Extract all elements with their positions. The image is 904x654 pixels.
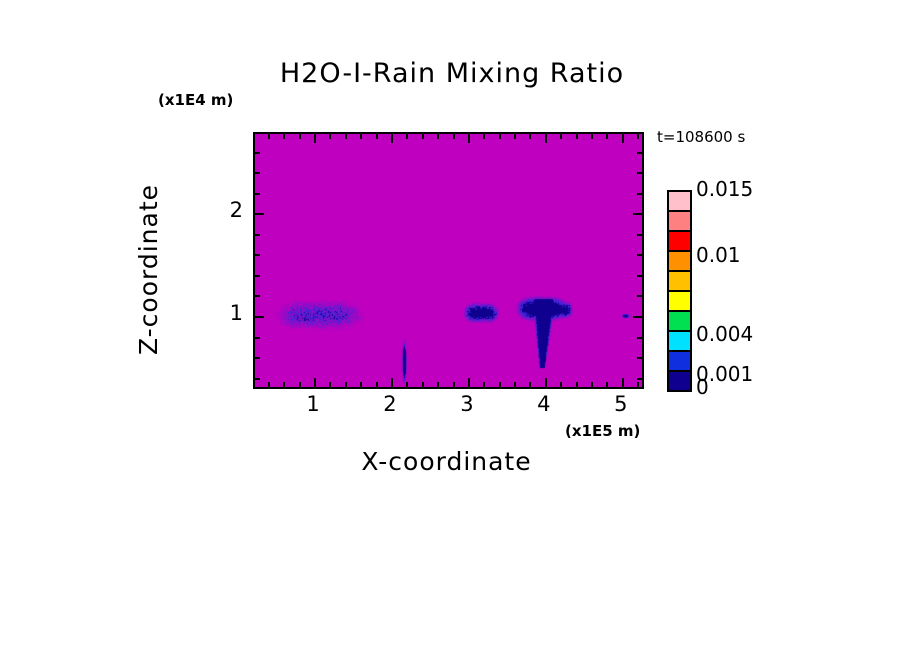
timestamp-annotation: t=108600 s: [657, 128, 745, 146]
x-axis-tick-label: 1: [293, 392, 333, 416]
colorbar-band-orange: [669, 252, 690, 272]
x-axis-tick-minor: [560, 134, 562, 139]
y-axis-tick-minor: [637, 152, 642, 154]
x-axis-tick-minor: [283, 134, 285, 139]
y-axis-unit-label: (x1E4 m): [158, 91, 233, 109]
colorbar: [667, 190, 692, 392]
x-axis-tick-minor: [376, 382, 378, 387]
x-axis-tick-minor: [453, 382, 455, 387]
x-axis-tick-minor: [299, 134, 301, 139]
colorbar-tick-label: 0.004: [696, 322, 753, 346]
x-axis-tick-minor: [422, 134, 424, 139]
x-axis-tick-minor: [345, 382, 347, 387]
x-axis-tick-minor: [453, 134, 455, 139]
x-axis-tick-minor: [591, 134, 593, 139]
x-axis-tick-label: 4: [524, 392, 564, 416]
colorbar-tick-label: 0.01: [696, 243, 741, 267]
x-axis-tick-minor: [329, 382, 331, 387]
colorbar-band-navy: [669, 372, 690, 390]
x-axis-tick-major: [622, 134, 624, 143]
colorbar-band-blue: [669, 352, 690, 372]
y-axis-tick-label: 1: [213, 301, 243, 325]
plot-area: [253, 132, 644, 389]
y-axis-tick-minor: [255, 378, 260, 380]
x-axis-tick-minor: [437, 382, 439, 387]
x-axis-tick-minor: [406, 134, 408, 139]
x-axis-tick-minor: [283, 382, 285, 387]
y-axis-tick-minor: [255, 275, 260, 277]
y-axis-tick-major: [255, 213, 264, 215]
x-axis-tick-minor: [606, 134, 608, 139]
x-axis-tick-minor: [360, 134, 362, 139]
y-axis-tick-minor: [637, 172, 642, 174]
y-axis-tick-minor: [637, 254, 642, 256]
y-axis-tick-minor: [637, 234, 642, 236]
x-axis-tick-minor: [514, 134, 516, 139]
colorbar-band-yellow: [669, 292, 690, 312]
x-axis-tick-label: 3: [447, 392, 487, 416]
heatmap-canvas: [255, 134, 642, 387]
x-axis-tick-minor: [576, 382, 578, 387]
x-axis-tick-minor: [437, 134, 439, 139]
x-axis-tick-minor: [329, 134, 331, 139]
x-axis-tick-minor: [483, 134, 485, 139]
x-axis-tick-minor: [268, 134, 270, 139]
y-axis-tick-minor: [637, 193, 642, 195]
x-axis-tick-major: [545, 134, 547, 143]
x-axis-tick-minor: [268, 382, 270, 387]
x-axis-tick-major: [314, 134, 316, 143]
y-axis-tick-minor: [637, 275, 642, 277]
y-axis-tick-minor: [255, 295, 260, 297]
x-axis-tick-minor: [376, 134, 378, 139]
x-axis-tick-minor: [360, 382, 362, 387]
y-axis-tick-minor: [637, 295, 642, 297]
y-axis-tick-major: [255, 316, 264, 318]
y-axis-tick-label: 2: [213, 198, 243, 222]
y-axis-tick-minor: [255, 193, 260, 195]
x-axis-tick-label: 5: [601, 392, 641, 416]
y-axis-tick-minor: [255, 234, 260, 236]
y-axis-tick-minor: [255, 152, 260, 154]
x-axis-tick-major: [391, 134, 393, 143]
colorbar-band-red: [669, 232, 690, 252]
x-axis-tick-major: [391, 378, 393, 387]
y-axis-tick-minor: [255, 254, 260, 256]
x-axis-tick-minor: [576, 134, 578, 139]
x-axis-tick-label: 2: [370, 392, 410, 416]
x-axis-tick-major: [545, 378, 547, 387]
x-axis-tick-minor: [499, 134, 501, 139]
x-axis-tick-minor: [637, 134, 639, 139]
colorbar-band-cyan: [669, 332, 690, 352]
x-axis-tick-minor: [529, 382, 531, 387]
colorbar-band-amber: [669, 272, 690, 292]
y-axis-tick-minor: [255, 172, 260, 174]
colorbar-band-pink: [669, 192, 690, 212]
x-axis-tick-major: [622, 378, 624, 387]
y-axis-tick-major: [633, 213, 642, 215]
x-axis-tick-minor: [345, 134, 347, 139]
x-axis-title: X-coordinate: [253, 447, 640, 476]
colorbar-tick-label: 0: [696, 375, 709, 399]
y-axis-tick-minor: [637, 357, 642, 359]
x-axis-tick-minor: [483, 382, 485, 387]
x-axis-tick-minor: [299, 382, 301, 387]
x-axis-tick-minor: [529, 134, 531, 139]
x-axis-tick-major: [314, 378, 316, 387]
x-axis-tick-minor: [606, 382, 608, 387]
figure-canvas: H2O-I-Rain Mixing Ratio (x1E4 m) t=10860…: [0, 0, 904, 654]
x-axis-tick-major: [468, 134, 470, 143]
y-axis-tick-minor: [637, 337, 642, 339]
colorbar-band-salmon: [669, 212, 690, 232]
x-axis-unit-label: (x1E5 m): [565, 422, 640, 440]
x-axis-tick-minor: [422, 382, 424, 387]
y-axis-tick-minor: [255, 337, 260, 339]
x-axis-tick-minor: [560, 382, 562, 387]
x-axis-tick-minor: [637, 382, 639, 387]
x-axis-tick-minor: [514, 382, 516, 387]
y-axis-tick-minor: [637, 378, 642, 380]
colorbar-tick-label: 0.015: [696, 177, 753, 201]
y-axis-tick-minor: [255, 357, 260, 359]
x-axis-tick-minor: [406, 382, 408, 387]
y-axis-tick-major: [633, 316, 642, 318]
x-axis-tick-minor: [591, 382, 593, 387]
y-axis-title: Z-coordinate: [134, 76, 163, 463]
x-axis-tick-major: [468, 378, 470, 387]
colorbar-band-green: [669, 312, 690, 332]
x-axis-tick-minor: [499, 382, 501, 387]
